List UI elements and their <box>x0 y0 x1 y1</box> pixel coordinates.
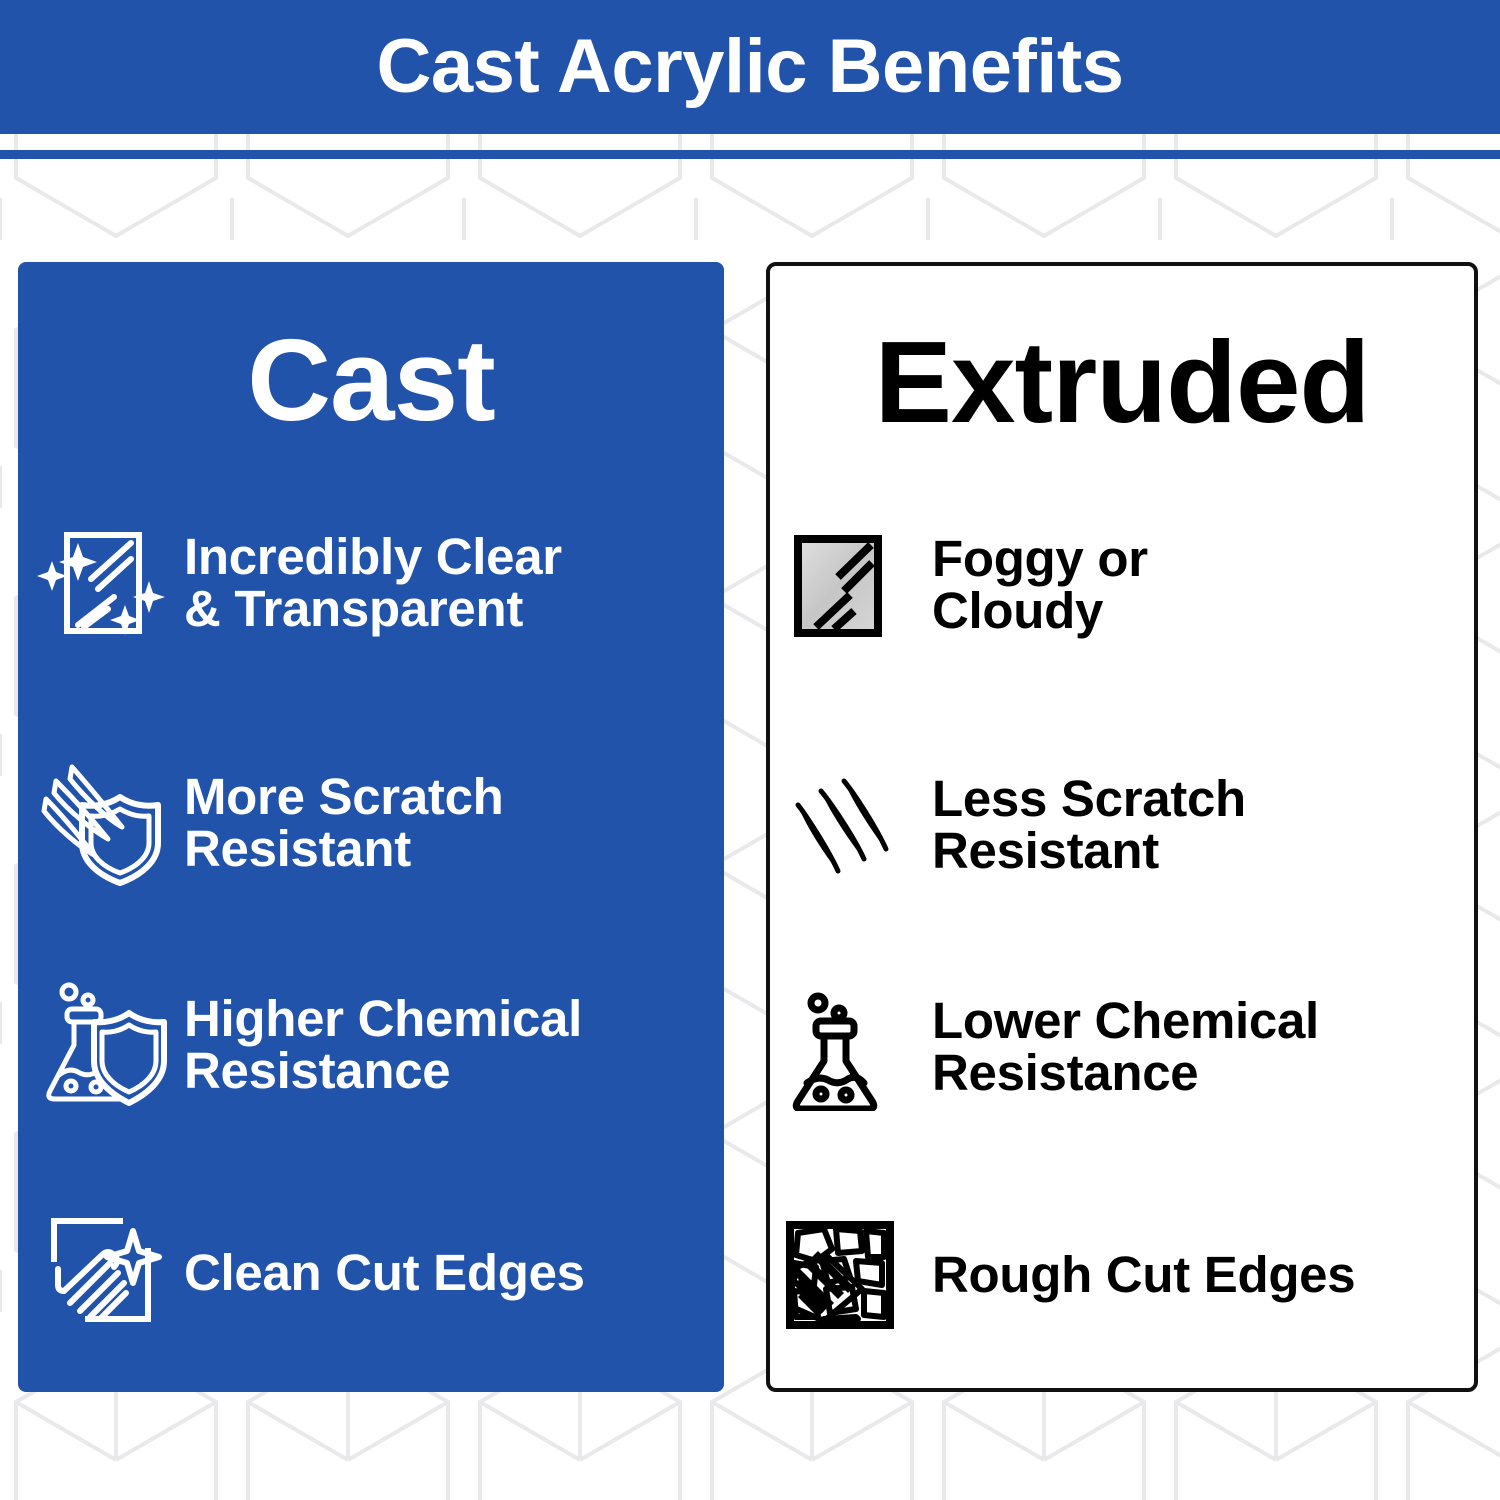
list-item-label: Less Scratch Resistant <box>932 773 1246 877</box>
clean-cut-edge-icon <box>36 1207 168 1339</box>
list-item-label: Lower Chemical Resistance <box>932 995 1319 1099</box>
list-item: Foggy or Cloudy <box>770 521 1480 649</box>
label-line-2: Resistant <box>932 825 1246 877</box>
flask-icon <box>776 983 904 1111</box>
label-line-2: Resistance <box>184 1045 582 1097</box>
label-line-1: Higher Chemical <box>184 993 582 1045</box>
list-item: Less Scratch Resistant <box>770 761 1480 889</box>
label-line-1: Clean Cut Edges <box>184 1247 585 1299</box>
panel-extruded: Extruded <box>766 262 1478 1392</box>
label-line-1: More Scratch <box>184 771 504 823</box>
list-item: More Scratch Resistant <box>18 757 742 889</box>
list-item-label: Clean Cut Edges <box>184 1247 585 1299</box>
panel-extruded-title: Extruded <box>770 324 1474 440</box>
list-item-label: Incredibly Clear & Transparent <box>184 531 562 635</box>
foggy-glass-icon <box>776 521 904 649</box>
clear-glass-sparkle-icon <box>36 517 168 649</box>
scratch-marks-icon <box>776 761 904 889</box>
flask-shield-icon <box>36 979 168 1111</box>
label-line-2: Cloudy <box>932 585 1148 637</box>
label-line-2: Resistance <box>932 1047 1319 1099</box>
panel-cast-title: Cast <box>18 322 724 438</box>
header-divider-rule <box>0 150 1500 159</box>
page-title: Cast Acrylic Benefits <box>377 29 1124 105</box>
list-item-label: Higher Chemical Resistance <box>184 993 582 1097</box>
label-line-1: Foggy or <box>932 533 1148 585</box>
list-item: Incredibly Clear & Transparent <box>18 517 742 649</box>
label-line-2: & Transparent <box>184 583 562 635</box>
list-item: Clean Cut Edges <box>18 1207 742 1339</box>
list-item: Rough Cut Edges <box>770 1211 1480 1339</box>
list-item-label: Rough Cut Edges <box>932 1249 1355 1301</box>
label-line-1: Lower Chemical <box>932 995 1319 1047</box>
list-item-label: More Scratch Resistant <box>184 771 504 875</box>
rough-cut-edge-icon <box>776 1211 904 1339</box>
label-line-1: Incredibly Clear <box>184 531 562 583</box>
list-item: Lower Chemical Resistance <box>770 983 1480 1111</box>
list-item-label: Foggy or Cloudy <box>932 533 1148 637</box>
label-line-2: Resistant <box>184 823 504 875</box>
comparison-panels: Cast <box>0 0 1500 1500</box>
scratch-shield-icon <box>36 757 168 889</box>
panel-cast: Cast <box>18 262 724 1392</box>
label-line-1: Less Scratch <box>932 773 1246 825</box>
list-item: Higher Chemical Resistance <box>18 979 742 1111</box>
header-bar: Cast Acrylic Benefits <box>0 0 1500 134</box>
label-line-1: Rough Cut Edges <box>932 1249 1355 1301</box>
